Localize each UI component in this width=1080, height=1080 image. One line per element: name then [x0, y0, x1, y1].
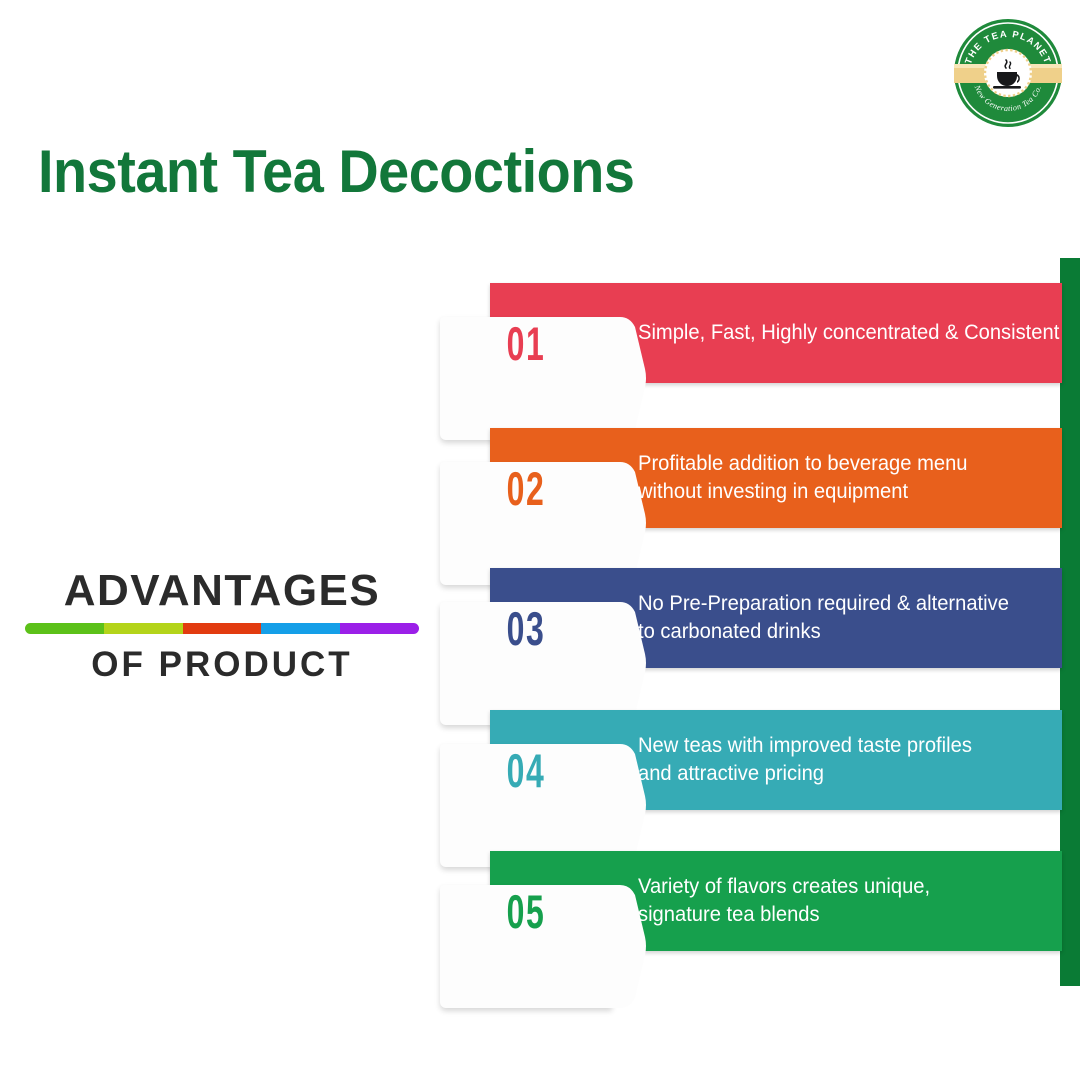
advantage-row[interactable]: 05Variety of flavors creates unique,sign… — [440, 843, 1062, 1028]
advantage-text-line-1: Simple, Fast, Highly concentrated & Cons… — [638, 319, 1032, 347]
color-rule-segment-4 — [261, 623, 340, 634]
section-heading-line1: ADVANTAGES — [22, 566, 422, 616]
advantage-number: 05 — [457, 821, 595, 966]
the-tea-planet-logo: THE TEA PLANET New Generation Tea Co. — [953, 18, 1063, 128]
advantage-text-line-2: and attractive pricing — [638, 760, 1032, 788]
advantage-text-line-1: Variety of flavors creates unique, — [638, 873, 1032, 901]
advantage-text-line-1: New teas with improved taste profiles — [638, 732, 1032, 760]
advantage-text: No Pre-Preparation required & alternativ… — [638, 568, 1032, 668]
advantage-text: Simple, Fast, Highly concentrated & Cons… — [638, 283, 1032, 383]
advantage-text-line-1: No Pre-Preparation required & alternativ… — [638, 590, 1032, 618]
slide-canvas: THE TEA PLANET New Generation Tea Co. In… — [0, 0, 1080, 1080]
advantage-number: 04 — [457, 680, 595, 825]
color-rule-segment-1 — [25, 623, 104, 634]
section-heading-line2: OF PRODUCT — [22, 644, 422, 686]
page-title: Instant Tea Decoctions — [38, 139, 634, 205]
advantage-number: 01 — [457, 253, 595, 398]
advantage-text-line-2: to carbonated drinks — [638, 618, 1032, 646]
advantage-text-line-2: signature tea blends — [638, 901, 1032, 929]
advantage-text-line-1: Profitable addition to beverage menu — [638, 450, 1032, 478]
advantage-number: 02 — [457, 398, 595, 543]
section-heading: ADVANTAGES OF PRODUCT — [22, 566, 422, 686]
color-rule-segment-2 — [104, 623, 183, 634]
advantage-text: Profitable addition to beverage menuwith… — [638, 428, 1032, 528]
advantage-number: 03 — [457, 538, 595, 683]
color-rule-segment-3 — [183, 623, 262, 634]
color-rule-segment-5 — [340, 623, 419, 634]
logo-svg: THE TEA PLANET New Generation Tea Co. — [953, 18, 1063, 128]
advantage-text-line-2: without investing in equipment — [638, 478, 1032, 506]
advantage-text: Variety of flavors creates unique,signat… — [638, 851, 1032, 951]
right-green-bar — [1060, 258, 1080, 986]
color-rule — [25, 623, 419, 634]
advantage-text: New teas with improved taste profilesand… — [638, 710, 1032, 810]
